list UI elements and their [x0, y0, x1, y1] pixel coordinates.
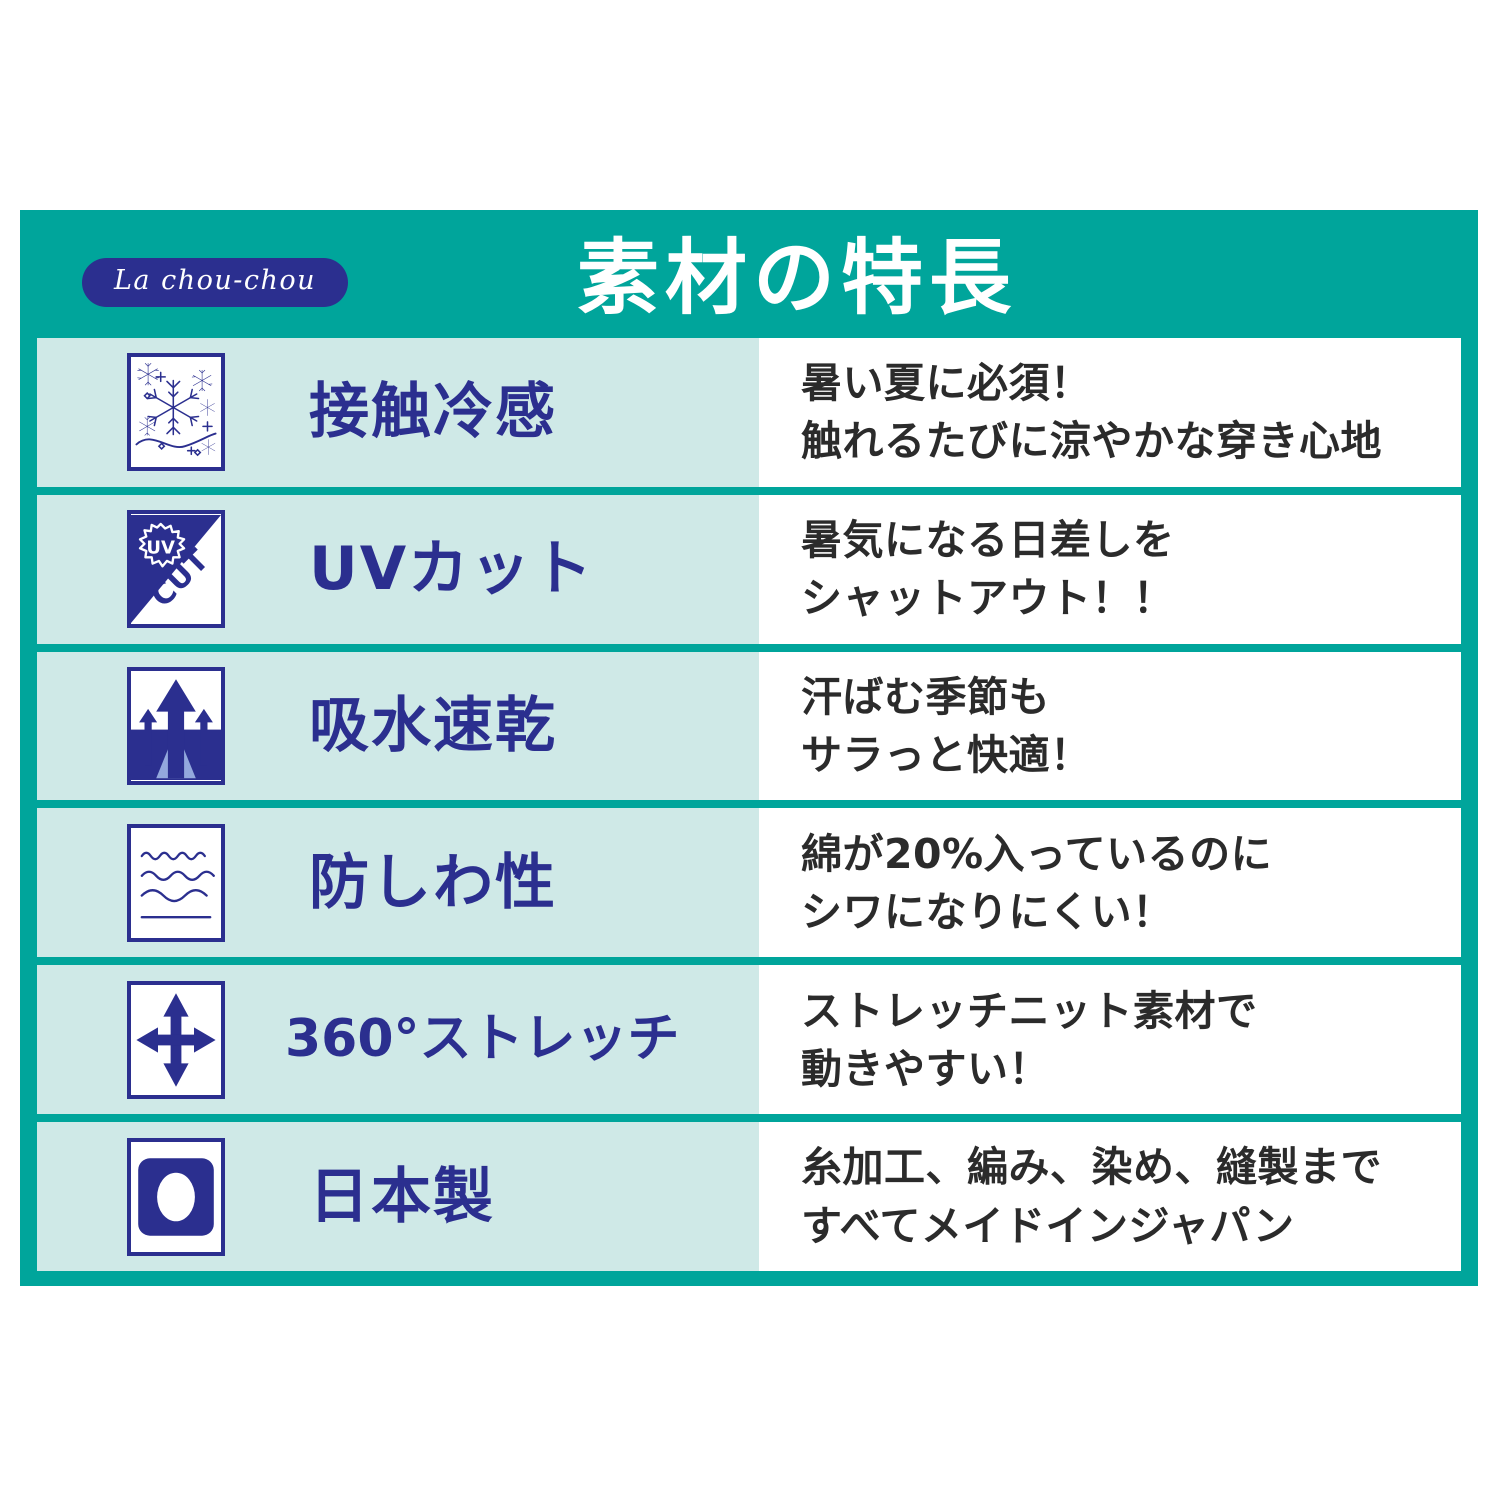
desc-line-2: 触れるたびに涼やかな穿き心地: [801, 412, 1461, 470]
desc-line-1: 糸加工、編み、染め、縫製まで: [801, 1138, 1461, 1196]
feature-label: 日本製: [309, 1164, 495, 1230]
desc-line-1: 暑い夏に必須！: [801, 354, 1461, 412]
table-row: UV CUT UVカット 暑気になる日差しを シャットアウト！！: [37, 495, 1461, 644]
desc-line-2: サラっと快適！: [801, 726, 1461, 784]
moisture-wicking-arrows-icon: [127, 667, 225, 785]
desc-line-1: 汗ばむ季節も: [801, 668, 1461, 726]
wrinkle-free-waves-icon: [127, 824, 225, 942]
feature-label: 防しわ性: [309, 850, 557, 916]
feature-desc-cell: 糸加工、編み、染め、縫製まで すべてメイドインジャパン: [759, 1122, 1461, 1271]
desc-line-1: ストレッチニット素材で: [801, 982, 1461, 1040]
feature-label-cell: 日本製: [37, 1122, 759, 1271]
feature-desc-cell: ストレッチニット素材で 動きやすい！: [759, 965, 1461, 1114]
desc-line-2: シワになりにくい！: [801, 883, 1461, 941]
brand-badge: La chou-chou: [82, 258, 348, 307]
svg-text:UV: UV: [146, 538, 175, 559]
feature-desc-cell: 暑い夏に必須！ 触れるたびに涼やかな穿き心地: [759, 338, 1461, 487]
japan-flag-icon: [127, 1138, 225, 1256]
feature-desc-cell: 汗ばむ季節も サラっと快適！: [759, 652, 1461, 801]
feature-label: UVカット: [309, 536, 594, 602]
feature-label-cell: 吸水速乾: [37, 652, 759, 801]
feature-label-cell: 防しわ性: [37, 808, 759, 957]
feature-label-cell: 接触冷感: [37, 338, 759, 487]
desc-line-2: 動きやすい！: [801, 1040, 1461, 1098]
feature-desc-cell: 綿が20%入っているのに シワになりにくい！: [759, 808, 1461, 957]
feature-desc-cell: 暑気になる日差しを シャットアウト！！: [759, 495, 1461, 644]
desc-line-2: すべてメイドインジャパン: [801, 1197, 1461, 1255]
feature-label-cell: 360°ストレッチ: [37, 965, 759, 1114]
feature-label: 接触冷感: [309, 379, 557, 445]
table-row: 日本製 糸加工、編み、染め、縫製まで すべてメイドインジャパン: [37, 1122, 1461, 1271]
feature-label: 360°ストレッチ: [285, 1011, 680, 1068]
feature-label-cell: UV CUT UVカット: [37, 495, 759, 644]
material-features-card: La chou-chou 素材の特長: [20, 210, 1478, 1286]
snowflake-icon: [127, 353, 225, 471]
uv-cut-icon: UV CUT: [127, 510, 225, 628]
table-row: 防しわ性 綿が20%入っているのに シワになりにくい！: [37, 808, 1461, 957]
four-way-stretch-arrow-icon: [127, 981, 225, 1099]
table-row: 接触冷感 暑い夏に必須！ 触れるたびに涼やかな穿き心地: [37, 338, 1461, 487]
table-row: 吸水速乾 汗ばむ季節も サラっと快適！: [37, 652, 1461, 801]
page-title: 素材の特長: [577, 232, 1017, 326]
features-table: 接触冷感 暑い夏に必須！ 触れるたびに涼やかな穿き心地 UV: [37, 338, 1461, 1271]
desc-line-1: 暑気になる日差しを: [801, 511, 1461, 569]
table-row: 360°ストレッチ ストレッチニット素材で 動きやすい！: [37, 965, 1461, 1114]
desc-line-2: シャットアウト！！: [801, 569, 1461, 627]
card-header: La chou-chou 素材の特長: [37, 210, 1461, 338]
feature-label: 吸水速乾: [309, 693, 557, 759]
desc-line-1: 綿が20%入っているのに: [801, 825, 1461, 883]
